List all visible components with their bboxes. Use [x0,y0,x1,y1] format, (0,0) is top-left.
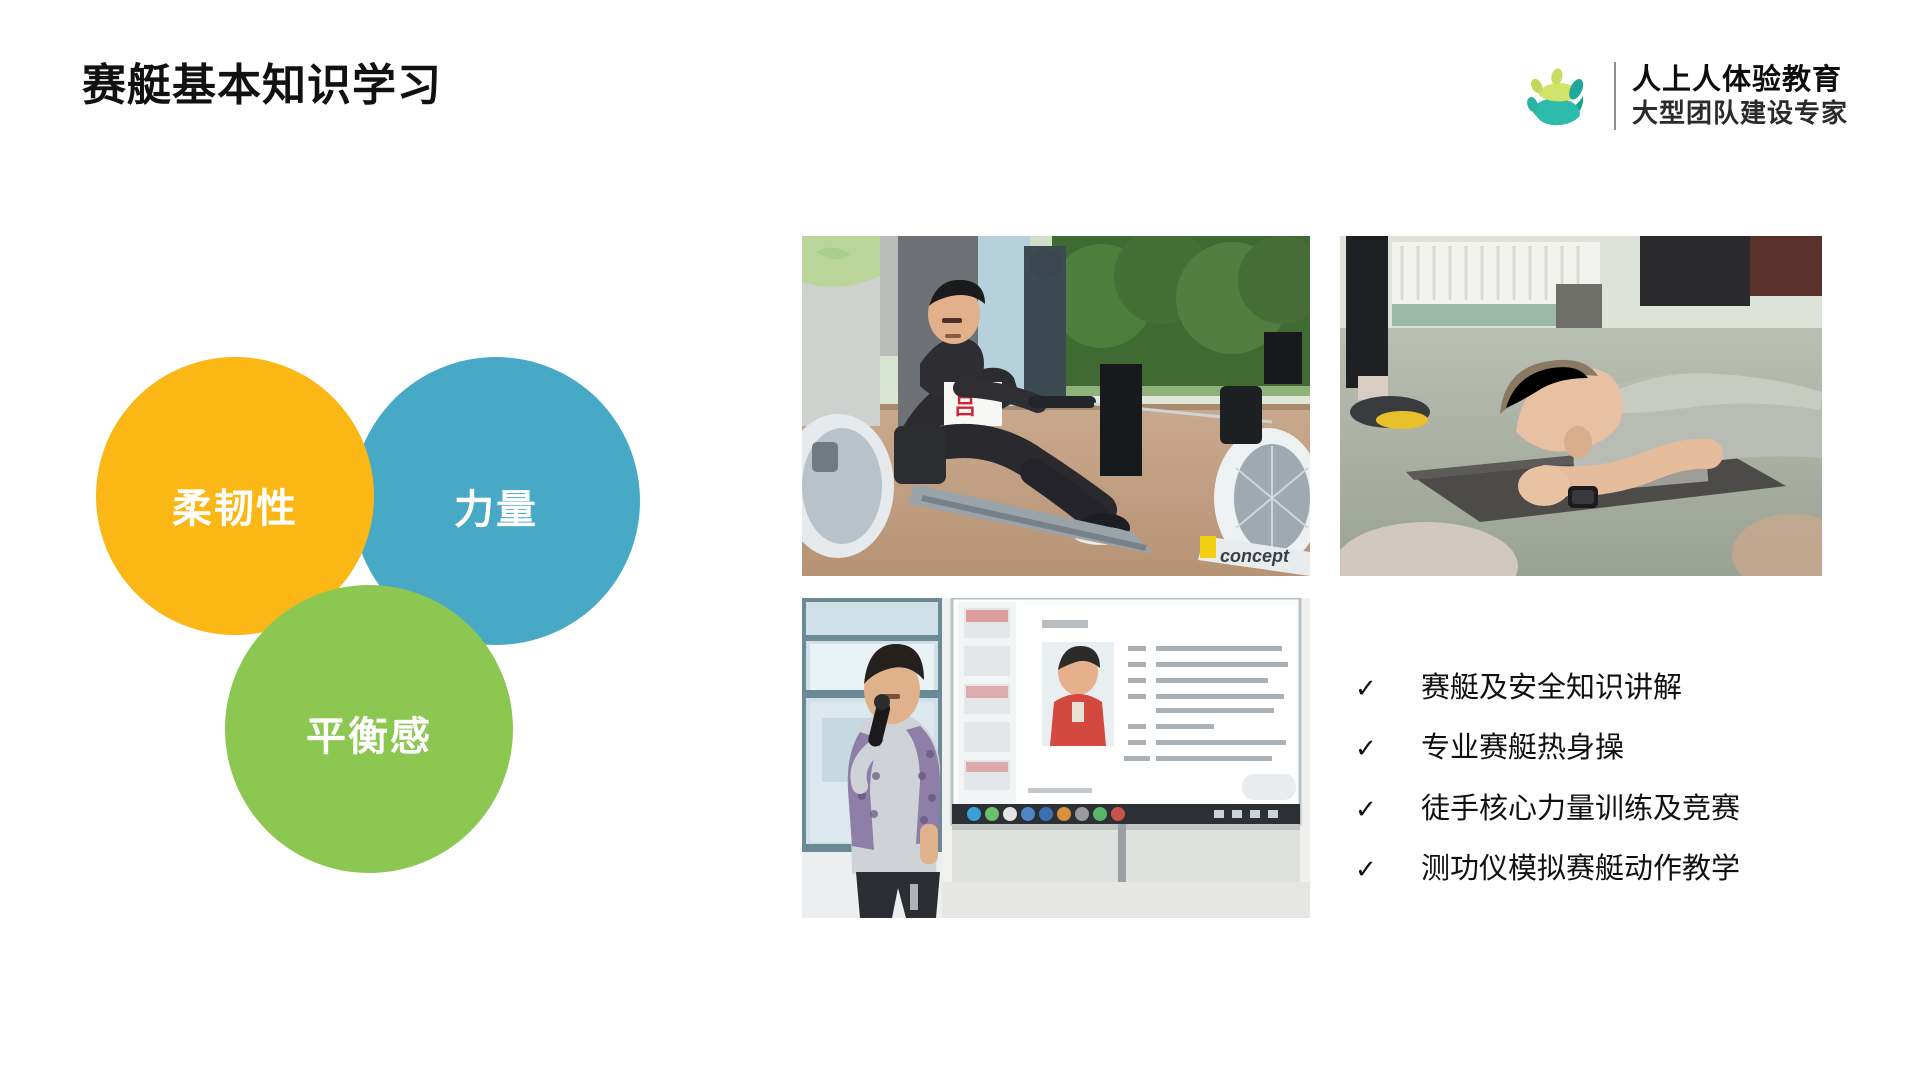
venn-circle-balance: 平衡感 [225,585,513,873]
leaf-droplet-circle-logo-icon [1514,54,1598,138]
page-title: 赛艇基本知识学习 [82,62,442,110]
check-icon: ✓ [1355,675,1377,701]
list-item: ✓ 测功仪模拟赛艇动作教学 [1355,853,1815,886]
photo-rowing-ergometer-competition: 吕 [802,236,1310,576]
list-item: ✓ 赛艇及安全知识讲解 [1355,672,1815,705]
list-item-label: 专业赛艇热身操 [1421,732,1624,765]
brand-lockup: 人上人体验教育 大型团队建设专家 [1514,50,1848,142]
brand-divider [1614,62,1616,130]
list-item-label: 测功仪模拟赛艇动作教学 [1421,853,1740,886]
check-icon: ✓ [1355,735,1377,761]
svg-text:concept: concept [1220,546,1290,566]
photo-plank-core-training [1340,236,1822,576]
list-item-label: 徒手核心力量训练及竞赛 [1421,793,1740,826]
venn-label-flexibility: 柔韧性 [172,476,298,534]
check-icon: ✓ [1355,856,1377,882]
feature-bullet-list: ✓ 赛艇及安全知识讲解 ✓ 专业赛艇热身操 ✓ 徒手核心力量训练及竞赛 ✓ 测功… [1355,672,1815,886]
brand-tagline: 大型团队建设专家 [1632,100,1848,127]
slide-canvas: 赛艇基本知识学习 人上人体验教育 大型团队建设专家 柔韧性 力量 [0,0,1920,1080]
venn-diagram: 柔韧性 力量 平衡感 [90,345,670,885]
photo-instructor-lecture-projector [802,598,1310,918]
brand-text: 人上人体验教育 大型团队建设专家 [1632,65,1848,127]
venn-label-strength: 力量 [454,477,538,535]
list-item: ✓ 徒手核心力量训练及竞赛 [1355,793,1815,826]
check-icon: ✓ [1355,796,1377,822]
list-item: ✓ 专业赛艇热身操 [1355,732,1815,765]
list-item-label: 赛艇及安全知识讲解 [1421,672,1682,705]
venn-label-balance: 平衡感 [306,704,432,762]
brand-name: 人上人体验教育 [1632,65,1848,95]
